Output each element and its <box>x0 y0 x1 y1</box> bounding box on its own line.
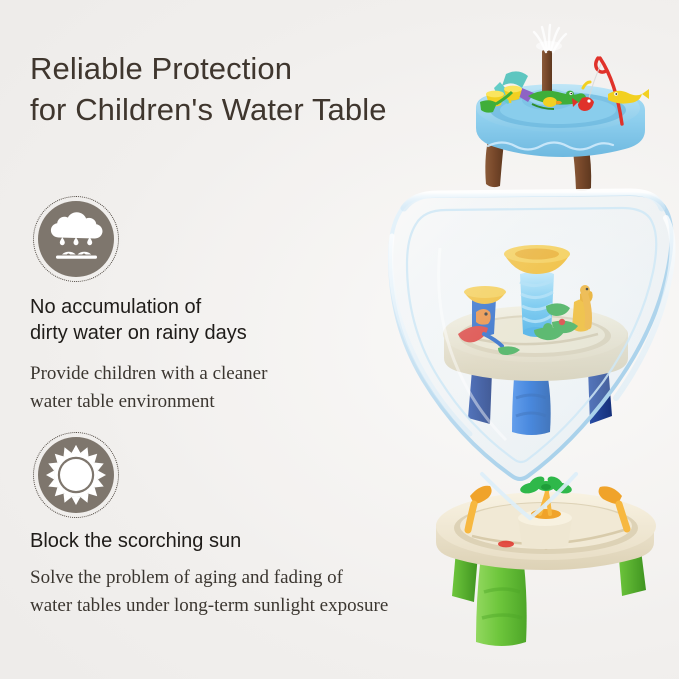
product-green-leg-water-table <box>422 452 672 667</box>
page-title: Reliable Protection for Children's Water… <box>30 48 387 130</box>
sun-icon <box>33 432 119 518</box>
feature-title: Block the scorching sun <box>30 528 241 554</box>
rain-cloud-icon <box>33 196 119 282</box>
icon-disc <box>38 201 114 277</box>
product-blue-water-table <box>470 22 655 207</box>
feature-subtitle: Provide children with a cleaner water ta… <box>30 360 267 416</box>
product-photo-group <box>350 0 679 679</box>
icon-disc <box>38 437 114 513</box>
feature-title: No accumulation of dirty water on rainy … <box>30 294 247 346</box>
feature-subtitle: Solve the problem of aging and fading of… <box>30 564 388 620</box>
marketing-image: Reliable Protection for Children's Water… <box>0 0 679 679</box>
product-cream-spiral-water-table <box>428 218 643 443</box>
